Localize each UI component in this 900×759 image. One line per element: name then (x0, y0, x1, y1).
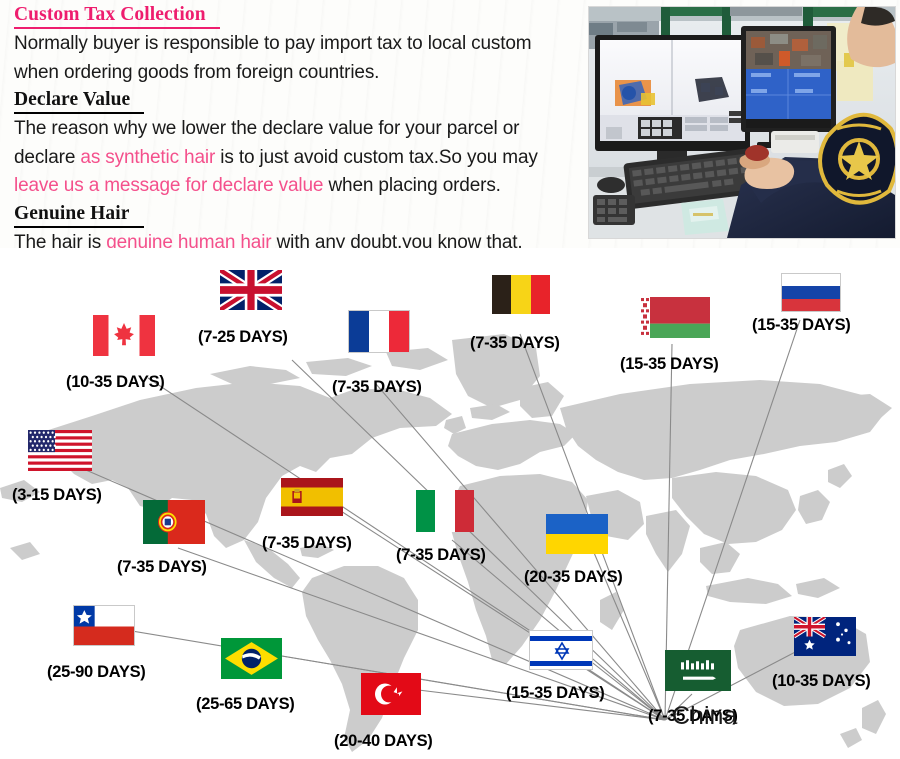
flag-be (492, 275, 550, 314)
body-text: is to just avoid custom tax.So you may (215, 147, 538, 168)
flag-by (640, 297, 710, 338)
flag-au (794, 617, 856, 656)
customs-info-section: Custom Tax CollectionNormally buyer is r… (0, 0, 900, 248)
highlight-text: leave us a message for declare value (14, 175, 323, 196)
flag-ua (546, 514, 608, 554)
delivery-days-ru: (15-35 DAYS) (752, 316, 851, 335)
section-heading-1: Declare Value (14, 87, 144, 114)
flag-pt (143, 500, 205, 544)
flag-it (416, 490, 474, 532)
delivery-days-gb: (7-25 DAYS) (198, 328, 288, 347)
flag-gb (220, 270, 282, 310)
section-heading-0: Custom Tax Collection (14, 2, 220, 29)
delivery-days-ca: (10-35 DAYS) (66, 373, 165, 392)
customs-inspection-photo (588, 6, 896, 239)
delivery-days-tr: (20-40 DAYS) (334, 732, 433, 751)
delivery-days-it: (7-35 DAYS) (396, 546, 486, 565)
section-1-line-2: leave us a message for declare value whe… (14, 172, 574, 201)
body-text: when placing orders. (323, 175, 500, 196)
flag-us (28, 430, 92, 471)
delivery-days-ua: (20-35 DAYS) (524, 568, 623, 587)
body-text: when ordering goods from foreign countri… (14, 62, 379, 83)
flag-es (281, 478, 343, 516)
section-1-line-0: The reason why we lower the declare valu… (14, 115, 574, 144)
body-text: declare (14, 147, 80, 168)
flag-ca (93, 315, 155, 356)
highlight-text: as synthetic hair (80, 147, 215, 168)
section-0-line-1: when ordering goods from foreign countri… (14, 59, 574, 88)
flag-br (221, 638, 282, 679)
delivery-days-fr: (7-35 DAYS) (332, 378, 422, 397)
section-0-line-0: Normally buyer is responsible to pay imp… (14, 30, 574, 59)
hub-label-china: China (672, 702, 737, 731)
section-1-line-1: declare as synthetic hair is to just avo… (14, 144, 574, 173)
delivery-days-br: (25-65 DAYS) (196, 695, 295, 714)
delivery-days-by: (15-35 DAYS) (620, 355, 719, 374)
flag-il (529, 630, 593, 670)
shipping-map-section: (7-25 DAYS)(10-35 DAYS)(7-35 DAYS)(7-35 … (0, 248, 900, 759)
flag-sa (665, 650, 731, 691)
body-text: The reason why we lower the declare valu… (14, 118, 519, 139)
flag-tr (361, 673, 421, 715)
flag-cl (73, 605, 135, 646)
delivery-days-il: (15-35 DAYS) (506, 684, 605, 703)
body-text: Normally buyer is responsible to pay imp… (14, 33, 532, 54)
delivery-days-au: (10-35 DAYS) (772, 672, 871, 691)
flag-ru (781, 273, 841, 312)
delivery-days-us: (3-15 DAYS) (12, 486, 102, 505)
delivery-days-pt: (7-35 DAYS) (117, 558, 207, 577)
customs-photo-illustration (589, 7, 895, 238)
delivery-days-es: (7-35 DAYS) (262, 534, 352, 553)
section-heading-2: Genuine Hair (14, 201, 144, 228)
delivery-days-cl: (25-90 DAYS) (47, 663, 146, 682)
delivery-days-be: (7-35 DAYS) (470, 334, 560, 353)
customs-info-text: Custom Tax CollectionNormally buyer is r… (14, 2, 574, 257)
flag-fr (348, 310, 410, 353)
